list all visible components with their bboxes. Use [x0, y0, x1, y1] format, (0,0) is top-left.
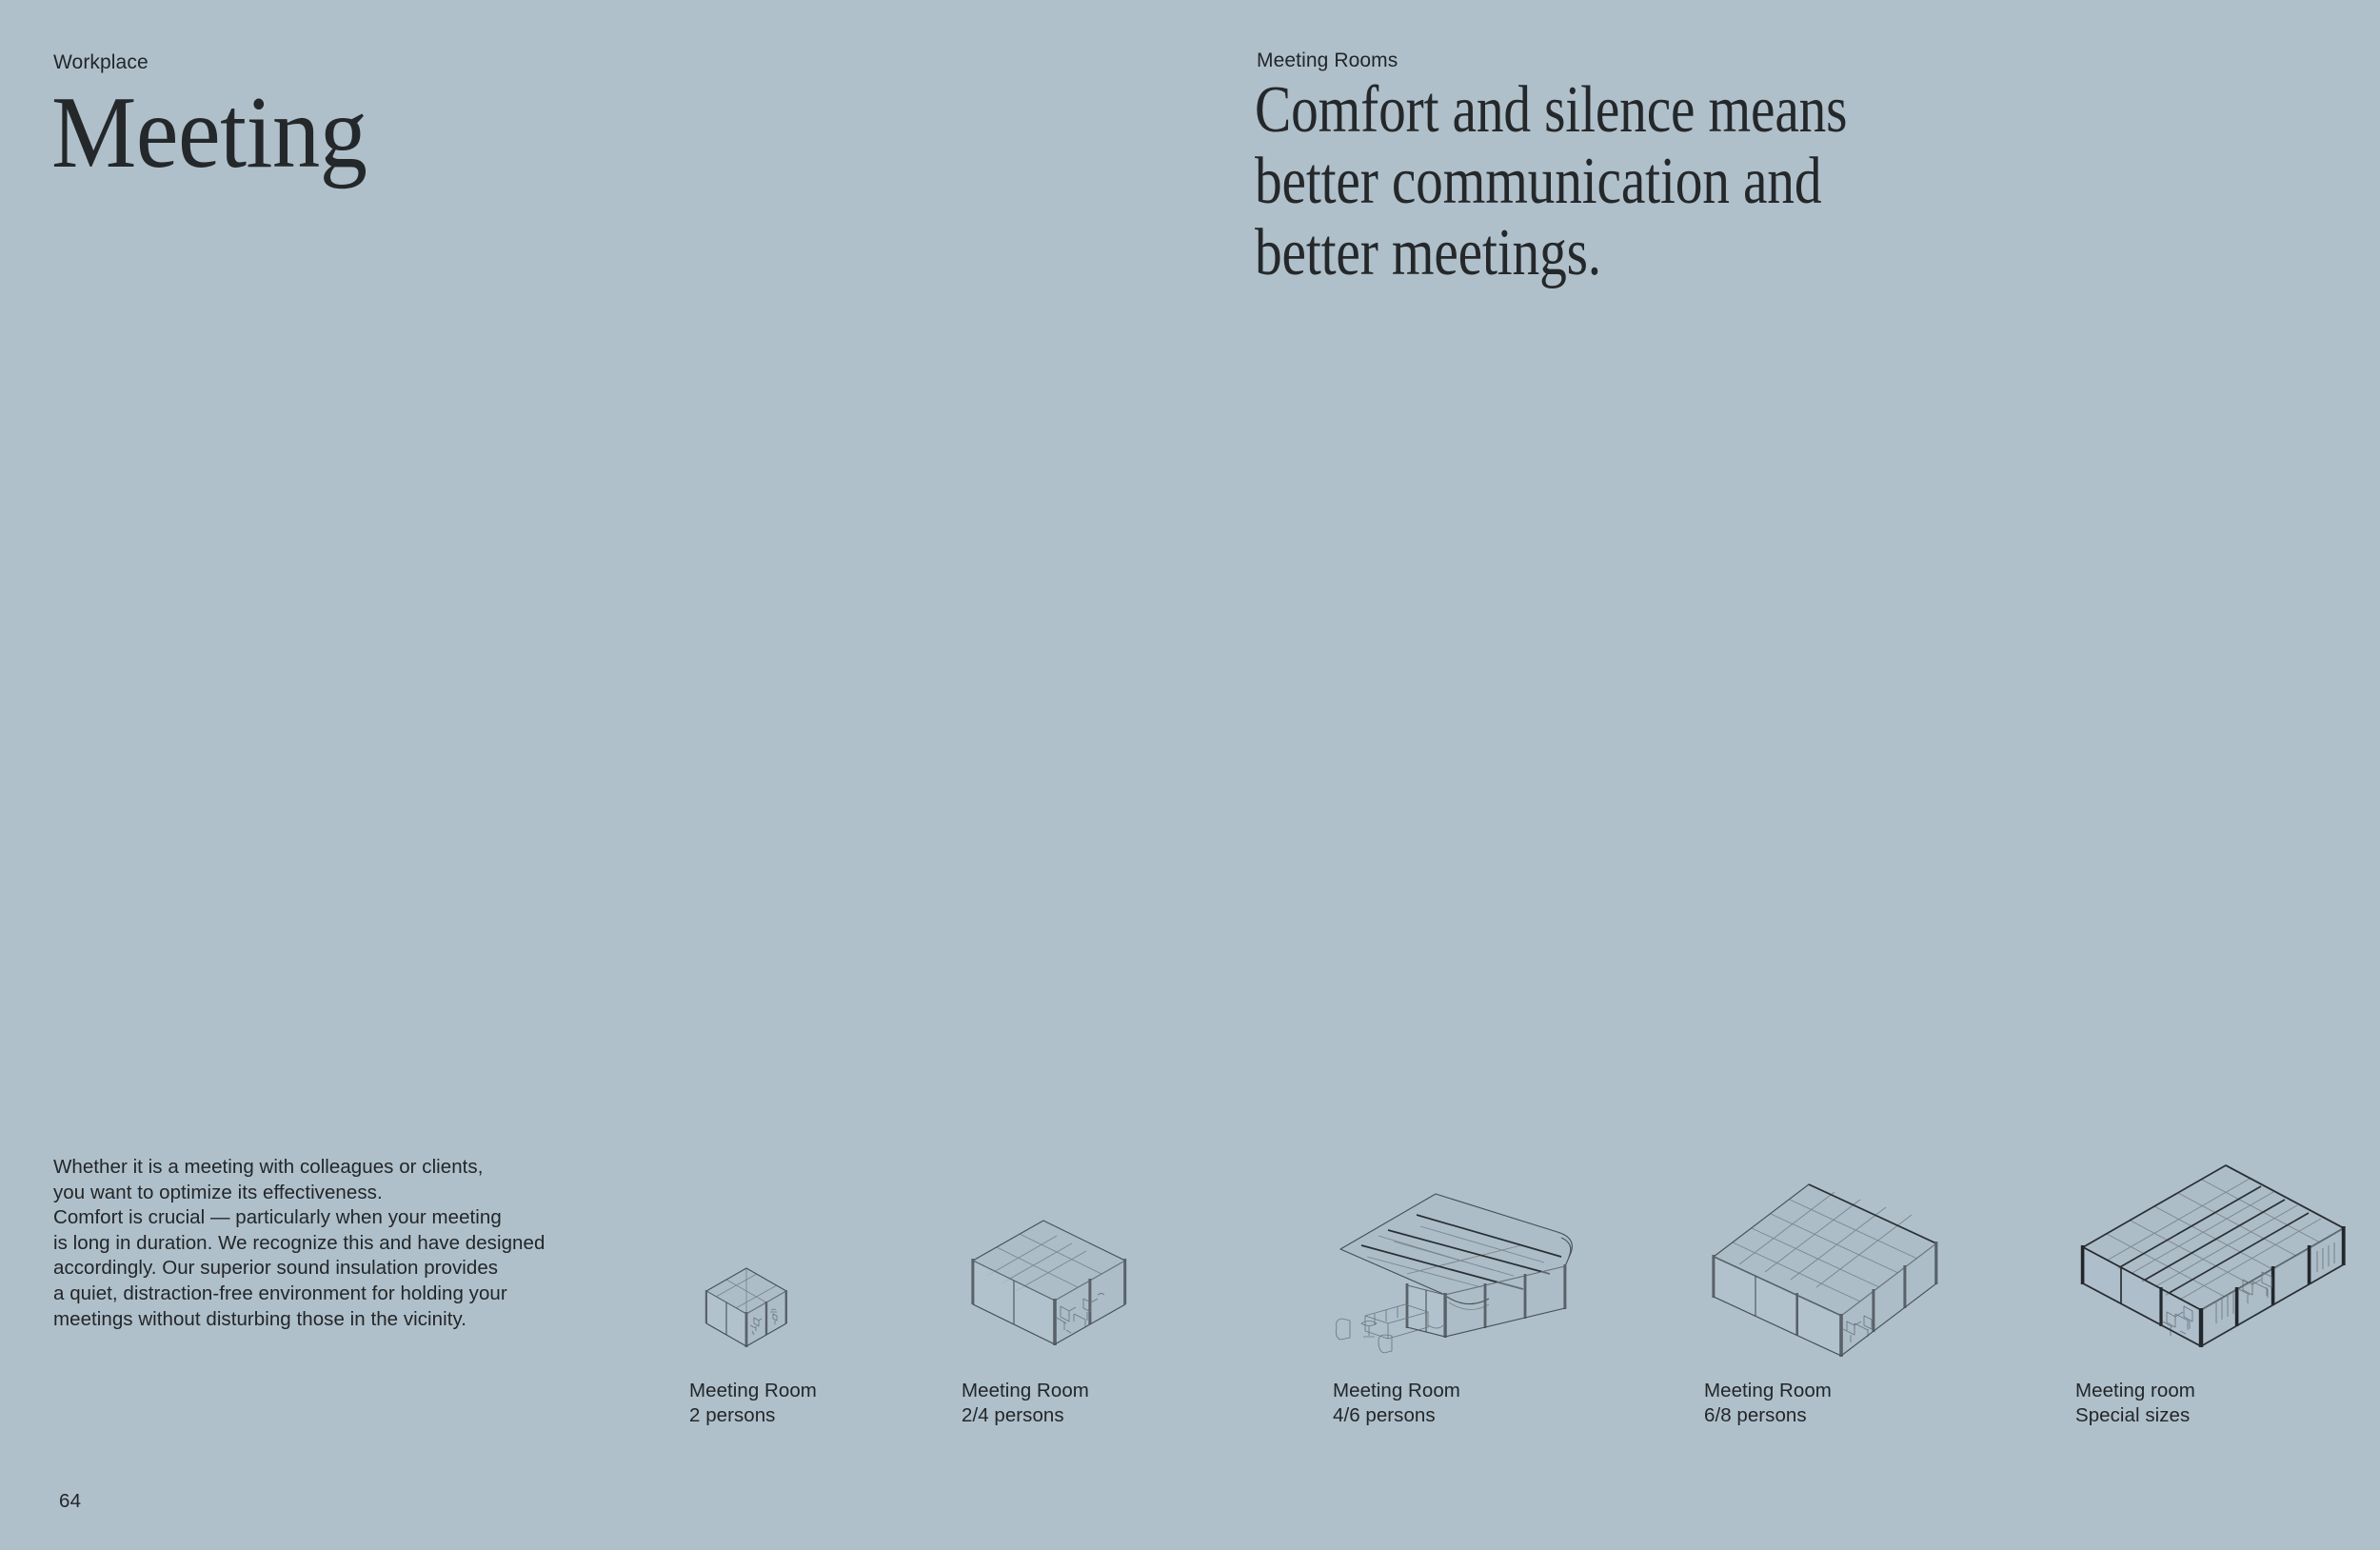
- catalogue-spread: Workplace Meeting Whether it is a meetin…: [0, 0, 2380, 1550]
- page-title: Meeting: [51, 82, 367, 185]
- intro-line: Whether it is a meeting with colleagues …: [53, 1155, 644, 1181]
- intro-line: meetings without disturbing those in the…: [53, 1307, 644, 1333]
- meeting-room-special-sizes-illustration: [2075, 1144, 2351, 1363]
- intro-line: you want to optimize its effectiveness.: [53, 1181, 644, 1206]
- section-label-meeting-rooms: Meeting Rooms: [1257, 49, 1398, 72]
- product-size: 6/8 persons: [1704, 1403, 1832, 1428]
- intro-line: is long in duration. We recognize this a…: [53, 1231, 644, 1257]
- product-name: Meeting Room: [962, 1380, 1089, 1401]
- product-caption: Meeting Room 4/6 persons: [1333, 1379, 1460, 1428]
- product-name: Meeting Room: [689, 1380, 817, 1401]
- headline-line: better communication and: [1255, 146, 2043, 217]
- meeting-room-6-8-persons-illustration: [1704, 1173, 1947, 1363]
- product-caption: Meeting Room 2 persons: [689, 1379, 817, 1428]
- intro-line: Comfort is crucial — particularly when y…: [53, 1205, 644, 1231]
- meeting-room-2-persons-illustration: [689, 1259, 803, 1363]
- product-size: 2 persons: [689, 1403, 817, 1428]
- product-name: Meeting Room: [1704, 1380, 1832, 1401]
- page-number-left: 64: [59, 1490, 81, 1514]
- product-name: Meeting room: [2075, 1380, 2195, 1401]
- product-caption: Meeting room Special sizes: [2075, 1379, 2195, 1428]
- meeting-room-4-6-persons-illustration: [1333, 1182, 1590, 1363]
- intro-line: accordingly. Our superior sound insulati…: [53, 1256, 644, 1282]
- product-size: 2/4 persons: [962, 1403, 1089, 1428]
- meeting-room-2-4-persons-illustration: [962, 1211, 1138, 1363]
- intro-line: a quiet, distraction-free environment fo…: [53, 1282, 644, 1307]
- intro-paragraph: Whether it is a meeting with colleagues …: [53, 1155, 644, 1332]
- product-caption: Meeting Room 2/4 persons: [962, 1379, 1089, 1428]
- product-size: Special sizes: [2075, 1403, 2195, 1428]
- product-name: Meeting Room: [1333, 1380, 1460, 1401]
- product-size: 4/6 persons: [1333, 1403, 1460, 1428]
- headline-line: better meetings.: [1255, 217, 2043, 288]
- section-label-workplace: Workplace: [53, 50, 149, 74]
- headline: Comfort and silence means better communi…: [1255, 74, 2043, 288]
- product-caption: Meeting Room 6/8 persons: [1704, 1379, 1832, 1428]
- headline-line: Comfort and silence means: [1255, 74, 2043, 146]
